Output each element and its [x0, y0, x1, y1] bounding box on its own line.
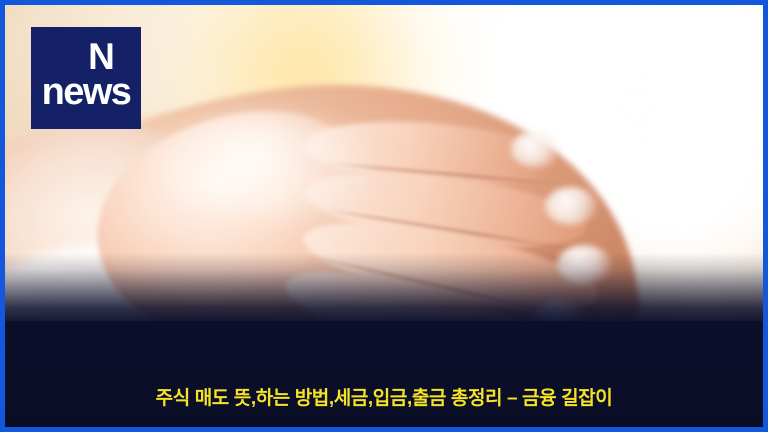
footer-gradient-fade [5, 253, 763, 327]
footer-bar: 주식 매도 뜻,하는 방법,세금,입금,출금 총정리 – 금융 길잡이 [5, 321, 763, 427]
news-logo[interactable]: N news [31, 27, 141, 129]
logo-word-news: news [35, 73, 137, 111]
news-thumbnail-card: 주식 매도 뜻,하는 방법,세금,입금,출금 총정리 – 금융 길잡이 N ne… [0, 0, 768, 432]
logo-letter-n: N [35, 39, 137, 75]
article-title: 주식 매도 뜻,하는 방법,세금,입금,출금 총정리 – 금융 길잡이 [156, 383, 613, 410]
